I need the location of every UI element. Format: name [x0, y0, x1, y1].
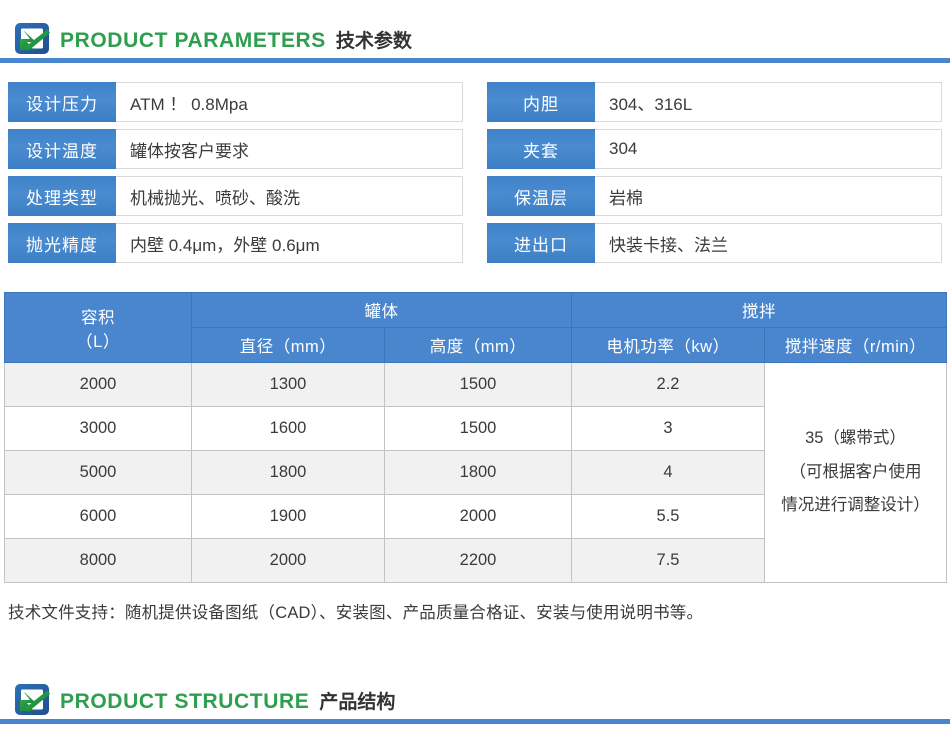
section-title-en: PRODUCT STRUCTURE [60, 690, 309, 713]
spec-value-design-pressure: ATM ！ 0.8Mpa [116, 83, 462, 121]
spec-key-design-pressure: 设计压力 [8, 82, 116, 122]
cell-height: 1500 [385, 407, 572, 451]
spec-row: 处理类型 机械抛光、喷砂、酸洗 [8, 176, 463, 216]
header-height: 高度（mm） [385, 328, 572, 363]
logo-square-lightning-icon [12, 20, 52, 58]
spec-value-insulation-layer: 岩棉 [595, 177, 941, 215]
header-volume-label: 容积 [6, 304, 190, 328]
spec-table-left: 设计压力 ATM ！ 0.8Mpa 设计温度 罐体按客户要求 处理类型 机械抛光… [8, 82, 463, 270]
cell-motor-power: 3 [572, 407, 765, 451]
section-title-group: PRODUCT PARAMETERS技术参数 [60, 26, 412, 53]
spec-key-inner-tank: 内胆 [487, 82, 595, 122]
spec-key-polish-precision: 抛光精度 [8, 223, 116, 263]
cell-volume: 3000 [5, 407, 192, 451]
header-motor-power: 电机功率（kw） [572, 328, 765, 363]
spec-row: 内胆 304、316L [487, 82, 942, 122]
spec-row: 夹套 304 [487, 129, 942, 169]
cell-diameter: 1600 [192, 407, 385, 451]
table-body: 2000 1300 1500 2.2 35（螺带式） （可根据客户使用 情况进行… [5, 363, 947, 583]
spec-key-treatment-type: 处理类型 [8, 176, 116, 216]
header-diameter: 直径（mm） [192, 328, 385, 363]
agitation-speed-line-2: （可根据客户使用 [769, 456, 942, 490]
spec-table-right: 内胆 304、316L 夹套 304 保温层 岩棉 进出口 快装卡接、法兰 [487, 82, 942, 270]
spec-key-design-temperature: 设计温度 [8, 129, 116, 169]
technical-document-note: 技术文件支持：随机提供设备图纸（CAD）、安装图、产品质量合格证、安装与使用说明… [8, 599, 950, 623]
cell-diameter: 1800 [192, 451, 385, 495]
header-group-agitation: 搅拌 [572, 293, 947, 328]
spec-key-insulation-layer: 保温层 [487, 176, 595, 216]
spec-value-inner-tank: 304、316L [595, 83, 941, 121]
specification-data-table: 容积 （L） 罐体 搅拌 直径（mm） 高度（mm） 电机功率（kw） 搅拌速度… [4, 292, 947, 583]
cell-motor-power: 7.5 [572, 539, 765, 583]
cell-height: 1800 [385, 451, 572, 495]
cell-volume: 6000 [5, 495, 192, 539]
cell-motor-power: 4 [572, 451, 765, 495]
cell-motor-power: 5.5 [572, 495, 765, 539]
header-group-tank: 罐体 [192, 293, 572, 328]
cell-agitation-speed-merged: 35（螺带式） （可根据客户使用 情况进行调整设计） [765, 363, 947, 583]
section-header-product-parameters: PRODUCT PARAMETERS技术参数 [0, 0, 950, 70]
spec-row: 抛光精度 内壁 0.4μm，外壁 0.6μm [8, 223, 463, 263]
section-title-cn: 技术参数 [336, 31, 412, 52]
section-divider-rule [0, 58, 950, 63]
section-title-group: PRODUCT STRUCTURE产品结构 [60, 687, 395, 714]
spec-value-polish-precision: 内壁 0.4μm，外壁 0.6μm [116, 224, 462, 262]
header-agitation-speed: 搅拌速度（r/min） [765, 328, 947, 363]
cell-height: 2200 [385, 539, 572, 583]
header-volume: 容积 （L） [5, 293, 192, 363]
spec-value-inlet-outlet: 快装卡接、法兰 [595, 224, 941, 262]
cell-motor-power: 2.2 [572, 363, 765, 407]
cell-volume: 5000 [5, 451, 192, 495]
spec-value-jacket: 304 [595, 130, 941, 168]
cell-diameter: 1300 [192, 363, 385, 407]
cell-diameter: 2000 [192, 539, 385, 583]
section-title-en: PRODUCT PARAMETERS [60, 29, 326, 52]
table-header: 容积 （L） 罐体 搅拌 直径（mm） 高度（mm） 电机功率（kw） 搅拌速度… [5, 293, 947, 363]
table-header-row-group: 容积 （L） 罐体 搅拌 [5, 293, 947, 328]
cell-height: 1500 [385, 363, 572, 407]
spec-row: 设计压力 ATM ！ 0.8Mpa [8, 82, 463, 122]
table-row: 2000 1300 1500 2.2 35（螺带式） （可根据客户使用 情况进行… [5, 363, 947, 407]
section-divider-rule [0, 719, 950, 724]
header-volume-unit: （L） [6, 328, 190, 352]
section-title-cn: 产品结构 [319, 692, 395, 713]
logo-square-lightning-icon [12, 681, 52, 719]
spec-key-inlet-outlet: 进出口 [487, 223, 595, 263]
cell-diameter: 1900 [192, 495, 385, 539]
cell-volume: 2000 [5, 363, 192, 407]
spec-row: 进出口 快装卡接、法兰 [487, 223, 942, 263]
spec-value-design-temperature: 罐体按客户要求 [116, 130, 462, 168]
cell-volume: 8000 [5, 539, 192, 583]
cell-height: 2000 [385, 495, 572, 539]
section-header-product-structure: PRODUCT STRUCTURE产品结构 [0, 661, 950, 731]
spec-key-jacket: 夹套 [487, 129, 595, 169]
agitation-speed-line-3: 情况进行调整设计） [769, 489, 942, 523]
spec-tables-container: 设计压力 ATM ！ 0.8Mpa 设计温度 罐体按客户要求 处理类型 机械抛光… [0, 82, 950, 270]
spec-row: 设计温度 罐体按客户要求 [8, 129, 463, 169]
spec-row: 保温层 岩棉 [487, 176, 942, 216]
agitation-speed-line-1: 35（螺带式） [769, 422, 942, 456]
spec-value-treatment-type: 机械抛光、喷砂、酸洗 [116, 177, 462, 215]
